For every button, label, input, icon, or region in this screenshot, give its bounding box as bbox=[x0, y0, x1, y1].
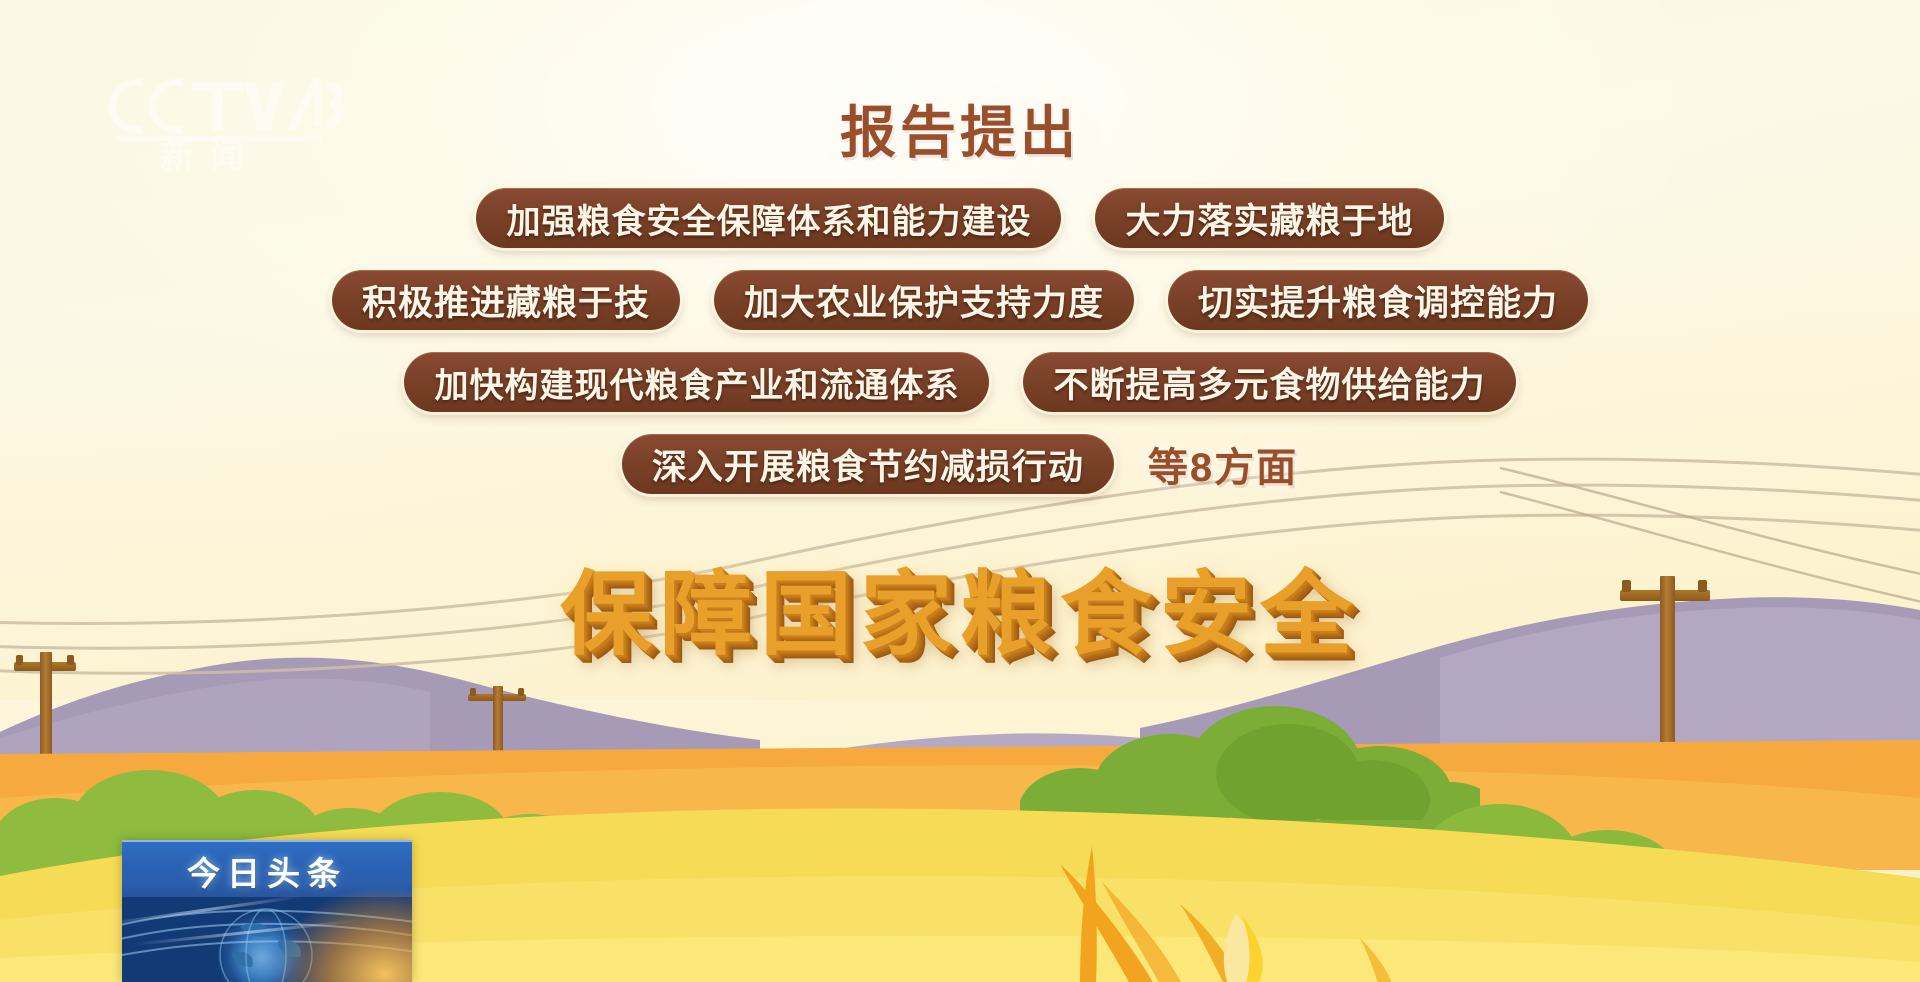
pill-row-2: 积极推进藏粮于技 加大农业保护支持力度 切实提升粮食调控能力 bbox=[0, 270, 1920, 330]
program-banner: 今日头条 bbox=[122, 840, 412, 982]
pill-item[interactable]: 积极推进藏粮于技 bbox=[332, 270, 680, 330]
pill-row-1: 加强粮食安全保障体系和能力建设 大力落实藏粮于地 bbox=[0, 188, 1920, 248]
pill-rows: 加强粮食安全保障体系和能力建设 大力落实藏粮于地 积极推进藏粮于技 加大农业保护… bbox=[0, 188, 1920, 516]
pill-item[interactable]: 加快构建现代粮食产业和流通体系 bbox=[404, 352, 989, 412]
page-title: 报告提出 bbox=[0, 88, 1920, 169]
pill-row-3: 加快构建现代粮食产业和流通体系 不断提高多元食物供给能力 bbox=[0, 352, 1920, 412]
pill-item[interactable]: 深入开展粮食节约减损行动 bbox=[622, 434, 1114, 494]
program-banner-globe-icon bbox=[122, 897, 412, 982]
pill-item[interactable]: 加强粮食安全保障体系和能力建设 bbox=[476, 188, 1061, 248]
broadcast-screenshot: 新闻 报告提出 加强粮食安全保障体系和能力建设 大力落实藏粮于地 积极推进藏粮于… bbox=[0, 0, 1920, 982]
pill-item[interactable]: 大力落实藏粮于地 bbox=[1095, 188, 1443, 248]
pill-item[interactable]: 切实提升粮食调控能力 bbox=[1168, 270, 1588, 330]
pill-item[interactable]: 不断提高多元食物供给能力 bbox=[1023, 352, 1515, 412]
pill-row-4: 深入开展粮食节约减损行动 等8方面 bbox=[0, 434, 1920, 494]
pill-row-suffix: 等8方面 bbox=[1148, 435, 1298, 493]
headline: 保障国家粮食安全 bbox=[0, 540, 1920, 673]
pill-item[interactable]: 加大农业保护支持力度 bbox=[714, 270, 1134, 330]
